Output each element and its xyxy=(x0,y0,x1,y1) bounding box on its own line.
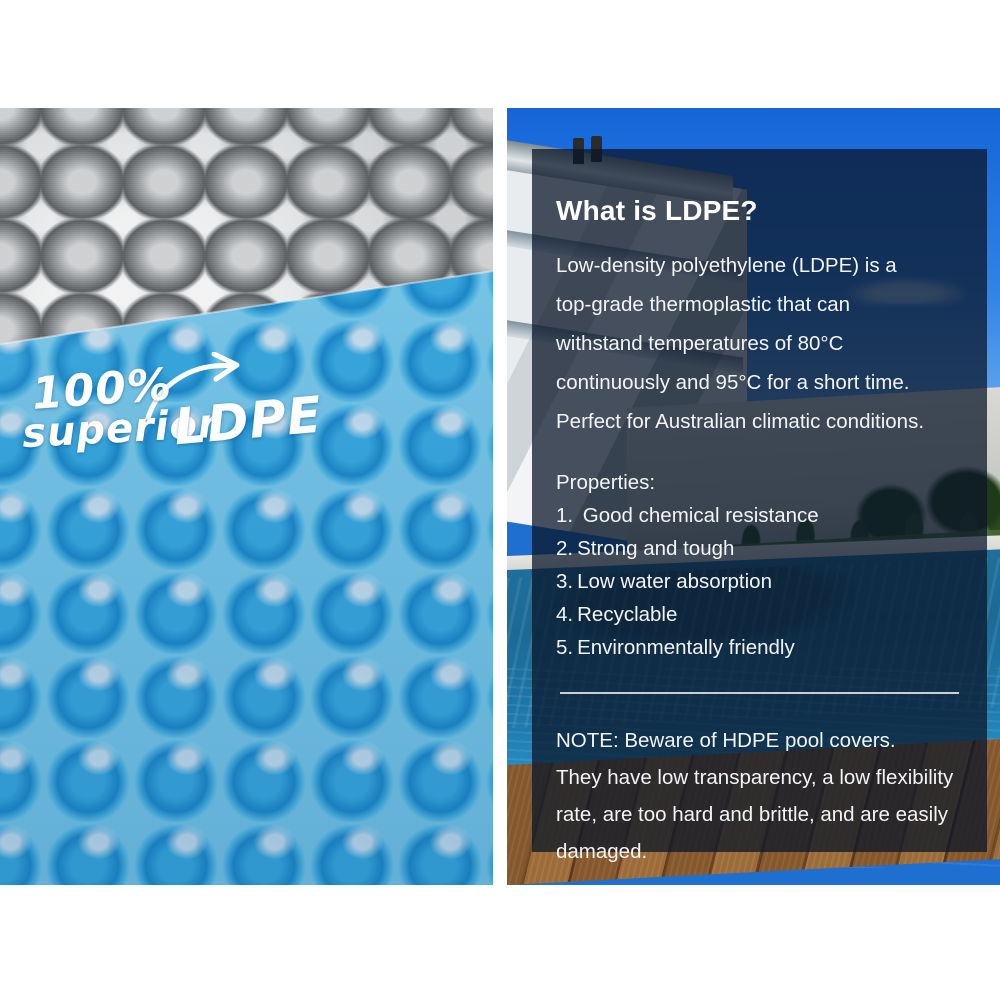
lead-line: top-grade thermoplastic that can xyxy=(556,288,963,321)
handwritten-ldpe: LDPE xyxy=(172,386,325,457)
note-line: They have low transparency, a low flexib… xyxy=(556,761,963,794)
card-title: What is LDPE? xyxy=(556,195,963,227)
list-item: Recyclable xyxy=(556,598,963,631)
lead-paragraph: Low-density polyethylene (LDPE) is a top… xyxy=(556,249,963,438)
note-section: NOTE: Beware of HDPE pool covers. They h… xyxy=(556,724,963,868)
lead-line: withstand temperatures of 80°C xyxy=(556,327,963,360)
section-divider xyxy=(560,692,959,694)
lead-line: Low-density polyethylene (LDPE) is a xyxy=(556,249,963,282)
lead-line: continuously and 95°C for a short time. xyxy=(556,366,963,399)
list-item: Low water absorption xyxy=(556,565,963,598)
handwritten-callout: 100% superior LDPE xyxy=(14,348,344,478)
bubble-cover-photo-panel: 100% superior LDPE xyxy=(0,108,493,885)
properties-heading: Properties: xyxy=(556,466,963,499)
properties-section: Properties: Good chemical resistance Str… xyxy=(556,466,963,664)
properties-list: Good chemical resistance Strong and toug… xyxy=(556,499,963,664)
list-item: Good chemical resistance xyxy=(556,499,963,532)
note-line: rate, are too hard and brittle, and are … xyxy=(556,798,963,831)
lead-line: Perfect for Australian climatic conditio… xyxy=(556,405,963,438)
note-line: NOTE: Beware of HDPE pool covers. xyxy=(556,724,963,757)
product-infographic: 100% superior LDPE xyxy=(0,0,1000,1000)
info-card: What is LDPE? Low-density polyethylene (… xyxy=(532,149,987,852)
note-line: damaged. xyxy=(556,835,963,868)
pool-scene-panel: What is LDPE? Low-density polyethylene (… xyxy=(507,108,1000,885)
list-item: Environmentally friendly xyxy=(556,631,963,664)
list-item: Strong and tough xyxy=(556,532,963,565)
